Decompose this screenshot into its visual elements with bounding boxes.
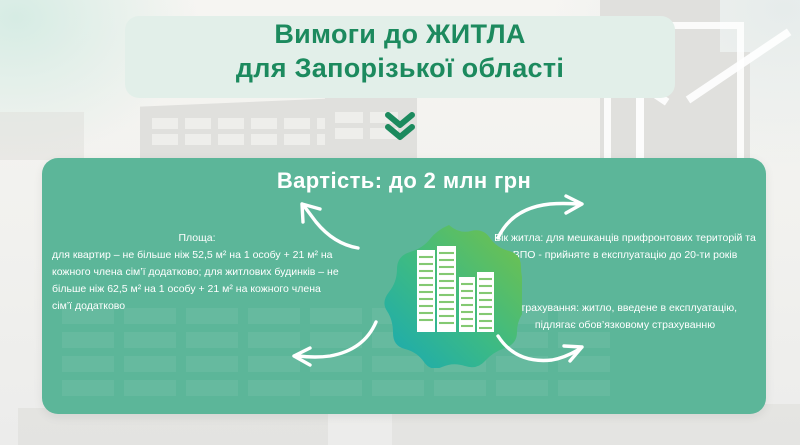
curved-arrow-down-left-icon	[288, 318, 380, 370]
card-heading: Вартість: до 2 млн грн	[42, 168, 766, 194]
double-chevron-down-icon	[0, 108, 800, 142]
requirements-card: Вартість: до 2 млн грн Площа: для кварти…	[42, 158, 766, 414]
curved-arrow-up-left-icon	[290, 198, 362, 252]
requirement-area-body: для квартир – не більше ніж 52,5 м² на 1…	[52, 247, 342, 315]
curved-arrow-up-right-icon	[494, 192, 590, 244]
page-title-line-1: Вимоги до ЖИТЛА	[0, 18, 800, 52]
page-title: Вимоги до ЖИТЛА для Запорізької області	[0, 18, 800, 86]
curved-arrow-down-right-icon	[494, 320, 590, 372]
infographic-canvas: Вимоги до ЖИТЛА для Запорізької області …	[0, 0, 800, 445]
page-title-line-2: для Запорізької області	[0, 52, 800, 86]
